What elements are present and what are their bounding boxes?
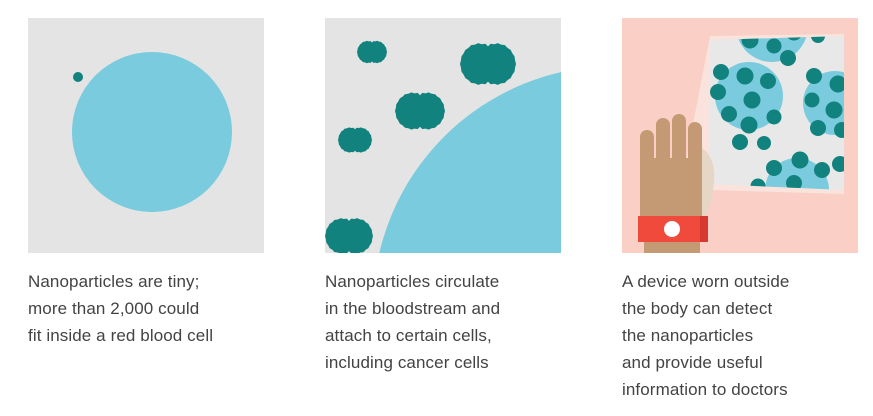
nanoparticle-size-comparison-illustration — [28, 18, 264, 253]
panel-nanoparticle-scale: Nanoparticles are tiny; more than 2,000 … — [0, 0, 294, 416]
inset-nanoparticle-shape — [710, 84, 726, 100]
inset-nanoparticle-shape — [760, 73, 776, 89]
nanoparticle-shape — [395, 92, 445, 129]
inset-nanoparticle-shape — [780, 50, 796, 66]
panel-caption: Nanoparticles circulate in the bloodstre… — [325, 268, 587, 376]
wearable-device — [638, 216, 708, 242]
inset-nanoparticle-shape — [767, 39, 782, 54]
inset-nanoparticle-shape — [767, 110, 782, 125]
inset-nanoparticle-shape — [826, 102, 843, 119]
inset-nanoparticle-shape — [806, 68, 822, 84]
panel-bloodstream-circulation: Nanoparticles circulate in the bloodstre… — [297, 0, 591, 416]
wearable-device-detecting-nanoparticles-illustration — [622, 18, 858, 253]
inset-nanoparticle-shape — [721, 106, 737, 122]
wristband-clasp — [700, 216, 708, 242]
sensor-light — [664, 221, 680, 237]
panel-wearable-detection: A device worn outside the body can detec… — [594, 0, 873, 416]
nanoparticle-shape — [325, 218, 373, 253]
palm — [640, 158, 702, 220]
inset-nanoparticle-shape — [744, 92, 761, 109]
inset-nanoparticle-shape — [814, 162, 830, 178]
inset-nanoparticle-shape — [766, 160, 782, 176]
panel-caption: Nanoparticles are tiny; more than 2,000 … — [28, 268, 290, 349]
inset-nanoparticle-shape — [757, 136, 771, 150]
inset-nanoparticle-shape — [741, 117, 758, 134]
inset-nanoparticle-shape — [737, 68, 754, 85]
nanoparticles-attaching-to-cell-illustration — [325, 18, 561, 253]
panel-caption: A device worn outside the body can detec… — [622, 268, 873, 403]
inset-nanoparticle-shape — [792, 152, 809, 169]
inset-nanoparticle-shape — [805, 93, 820, 108]
red-blood-cell-shape — [72, 52, 232, 212]
inset-nanoparticle-shape — [810, 120, 826, 136]
inset-nanoparticle-shape — [830, 76, 847, 93]
nanoparticle-shape — [73, 72, 83, 82]
nanoparticle-infographic: Nanoparticles are tiny; more than 2,000 … — [0, 0, 873, 416]
nanoparticle-shape — [357, 41, 387, 63]
nanoparticle-shape — [338, 127, 372, 152]
nanoparticle-shape — [460, 43, 516, 85]
inset-nanoparticle-shape — [732, 134, 748, 150]
inset-nanoparticle-shape — [713, 64, 729, 80]
